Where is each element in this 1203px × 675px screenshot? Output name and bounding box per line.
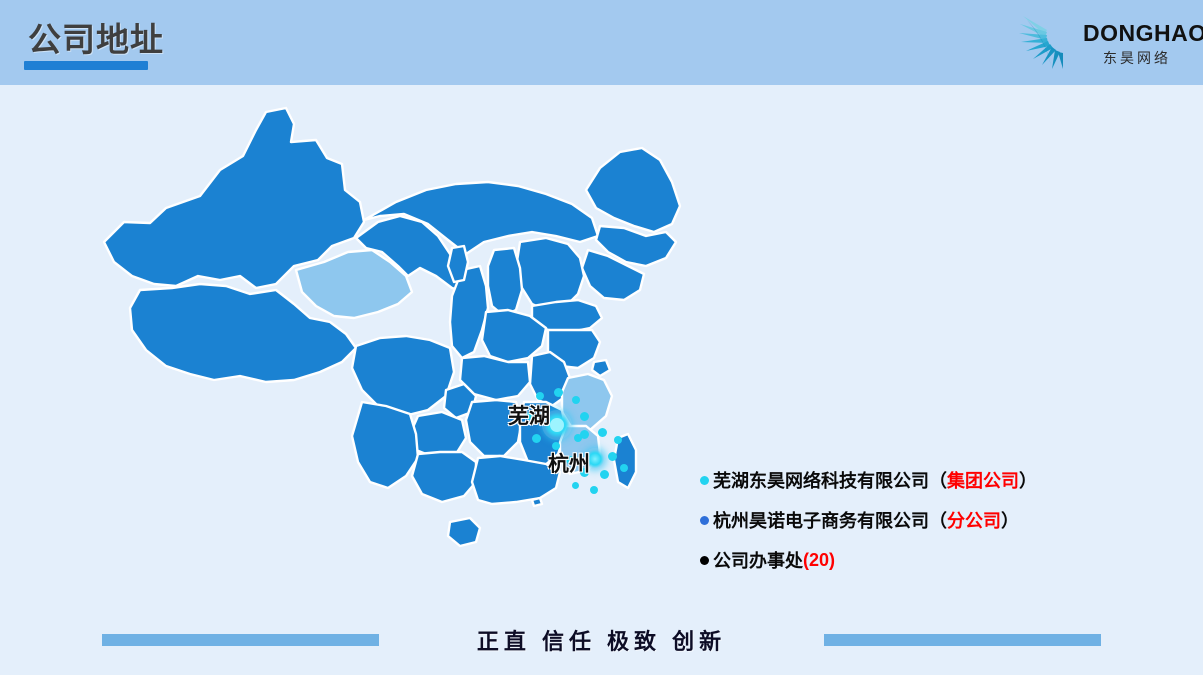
legend-bullet-blue-icon [700,516,709,525]
slide-canvas: 公司地址 DONGHAO 东昊网络 [0,0,1203,675]
footer-bar-right [824,634,1101,646]
province-fujian [560,426,600,474]
logo-brand-text: DONGHAO [1083,20,1203,47]
legend-label: 杭州昊诺电子商务有限公司 [713,507,929,533]
legend-paren-open: （ [929,507,947,533]
legend-highlight: 集团公司 [947,467,1019,493]
province-heilongjiang [586,148,680,232]
legend-highlight: 分公司 [947,507,1001,533]
legend-label: 公司办事处 [713,547,803,573]
province-zhejiang [562,374,612,430]
legend-label: 芜湖东昊网络科技有限公司 [713,467,929,493]
legend-item-group-company[interactable]: 芜湖东昊网络科技有限公司 （ 集团公司 ） [700,460,1130,500]
legend-paren-open: （ [929,467,947,493]
province-hongkong [532,498,542,506]
company-logo: DONGHAO 东昊网络 [1017,8,1189,74]
province-shanxi [488,248,522,316]
china-map-svg [80,90,740,610]
province-guangdong [472,456,560,504]
legend-highlight: (20) [803,550,835,571]
province-shanghai [592,360,610,376]
legend-paren-close: ） [1019,467,1037,493]
province-hunan [466,400,522,456]
province-taiwan [614,434,636,488]
fan-feather-icon [1017,10,1081,72]
legend-item-offices[interactable]: 公司办事处 (20) [700,540,1130,580]
logo-brand-cn-text: 东昊网络 [1103,48,1171,68]
page-title: 公司地址 [28,20,164,60]
china-map[interactable]: 芜湖 杭州 [80,90,740,610]
province-hainan [448,518,480,546]
legend: 芜湖东昊网络科技有限公司 （ 集团公司 ） 杭州昊诺电子商务有限公司 （ 分公司… [700,460,1130,580]
legend-item-branch-company[interactable]: 杭州昊诺电子商务有限公司 （ 分公司 ） [700,500,1130,540]
legend-bullet-cyan-icon [700,476,709,485]
title-underline-bar [24,61,148,70]
slide-header: 公司地址 DONGHAO 东昊网络 [0,0,1203,85]
province-guangxi [412,452,476,502]
province-ningxia [448,246,468,282]
legend-paren-close: ） [1001,507,1019,533]
province-yunnan [352,402,418,488]
legend-bullet-black-icon [700,556,709,565]
